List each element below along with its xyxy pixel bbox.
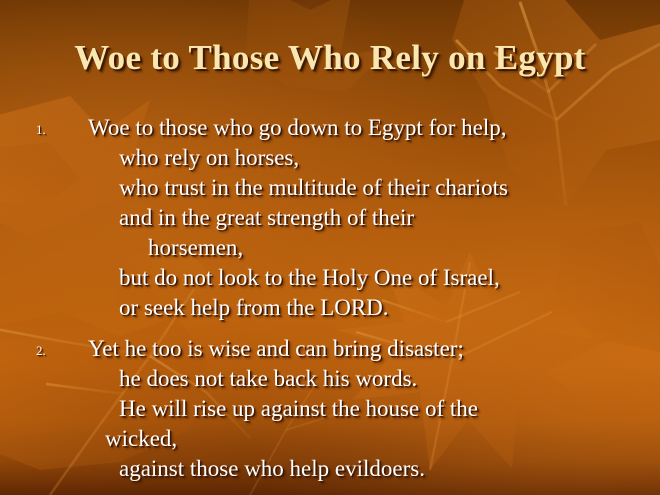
- list-item-text-1: Woe to those who go down to Egypt for he…: [0, 113, 660, 323]
- text-line: he does not take back his words.: [0, 364, 660, 394]
- text-line: horsemen,: [0, 233, 660, 263]
- text-line: Yet he too is wise and can bring disaste…: [0, 334, 660, 364]
- list-item-text-2: Yet he too is wise and can bring disaste…: [0, 334, 660, 484]
- text-line: against those who help evildoers.: [0, 454, 660, 484]
- text-line: He will rise up against the house of the: [0, 394, 660, 424]
- text-line: and in the great strength of their: [0, 203, 660, 233]
- slide-body: 1. Woe to those who go down to Egypt for…: [0, 113, 660, 484]
- text-line: or seek help from the LORD.: [0, 293, 660, 323]
- slide-title-container: Woe to Those Who Rely on Egypt: [0, 38, 660, 78]
- text-line: who rely on horses,: [0, 143, 660, 173]
- presentation-slide: Woe to Those Who Rely on Egypt 1. Woe to…: [0, 0, 660, 495]
- text-line: Woe to those who go down to Egypt for he…: [0, 113, 660, 143]
- text-line: who trust in the multitude of their char…: [0, 173, 660, 203]
- text-line: but do not look to the Holy One of Israe…: [0, 263, 660, 293]
- page-title: Woe to Those Who Rely on Egypt: [74, 38, 585, 78]
- list-item: 1. Woe to those who go down to Egypt for…: [0, 113, 660, 323]
- list-marker-1: 1.: [36, 122, 62, 138]
- text-line: wicked,: [0, 424, 660, 454]
- list-marker-2: 2.: [36, 343, 62, 359]
- list-item: 2. Yet he too is wise and can bring disa…: [0, 334, 660, 484]
